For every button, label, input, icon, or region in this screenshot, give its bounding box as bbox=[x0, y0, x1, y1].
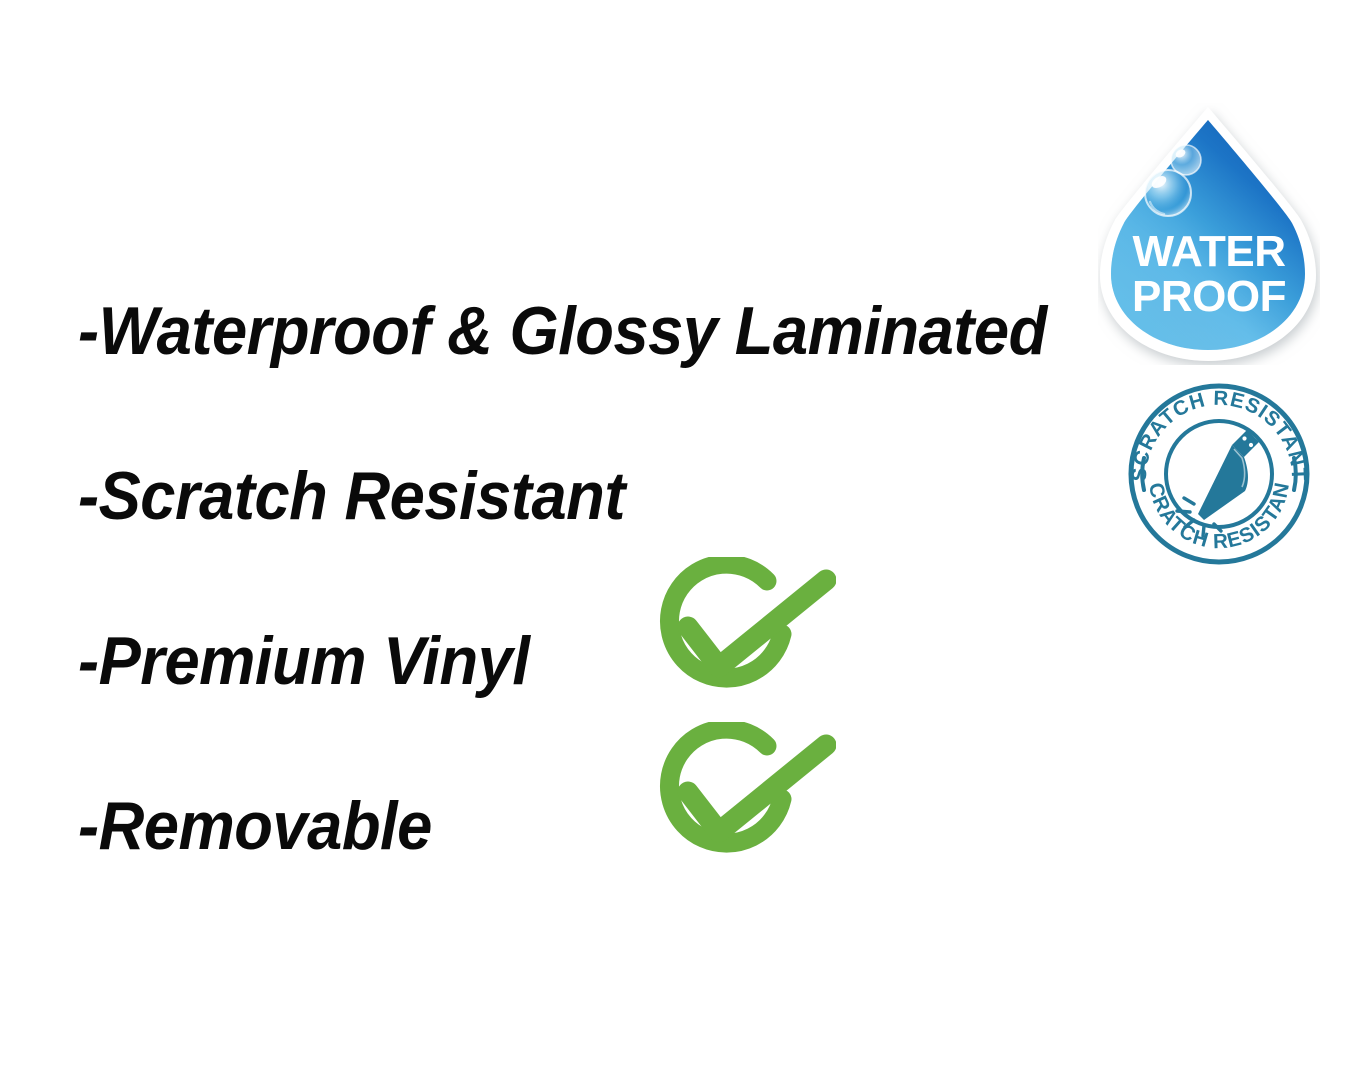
feature-item-premium-vinyl: -Premium Vinyl bbox=[78, 578, 1108, 743]
stamp-text-top: SCRATCH RESISTANT bbox=[1128, 387, 1310, 482]
feature-item-scratch-resistant: -Scratch Resistant bbox=[78, 413, 1108, 578]
waterproof-line2: PROOF bbox=[1132, 272, 1286, 321]
bubble-large-icon bbox=[1145, 170, 1191, 216]
feature-label: -Removable bbox=[78, 792, 432, 860]
waterproof-line1: WATER bbox=[1132, 227, 1285, 276]
check-circle-1 bbox=[636, 557, 836, 712]
feature-label: -Waterproof & Glossy Laminated bbox=[78, 297, 1047, 365]
waterproof-badge: WATER PROOF bbox=[1098, 103, 1320, 365]
feature-list: -Waterproof & Glossy Laminated -Scratch … bbox=[78, 248, 1108, 908]
check-circle-2 bbox=[636, 722, 836, 877]
check-mark-icon bbox=[688, 745, 826, 832]
feature-item-removable: -Removable bbox=[78, 743, 1108, 908]
feature-label: -Scratch Resistant bbox=[78, 462, 625, 530]
feature-label: -Premium Vinyl bbox=[78, 627, 530, 695]
feature-item-waterproof: -Waterproof & Glossy Laminated bbox=[78, 248, 1108, 413]
scratch-resistant-badge: SCRATCH RESISTANT SCRATCH RESISTANT bbox=[1124, 378, 1314, 566]
check-mark-icon bbox=[688, 580, 826, 667]
